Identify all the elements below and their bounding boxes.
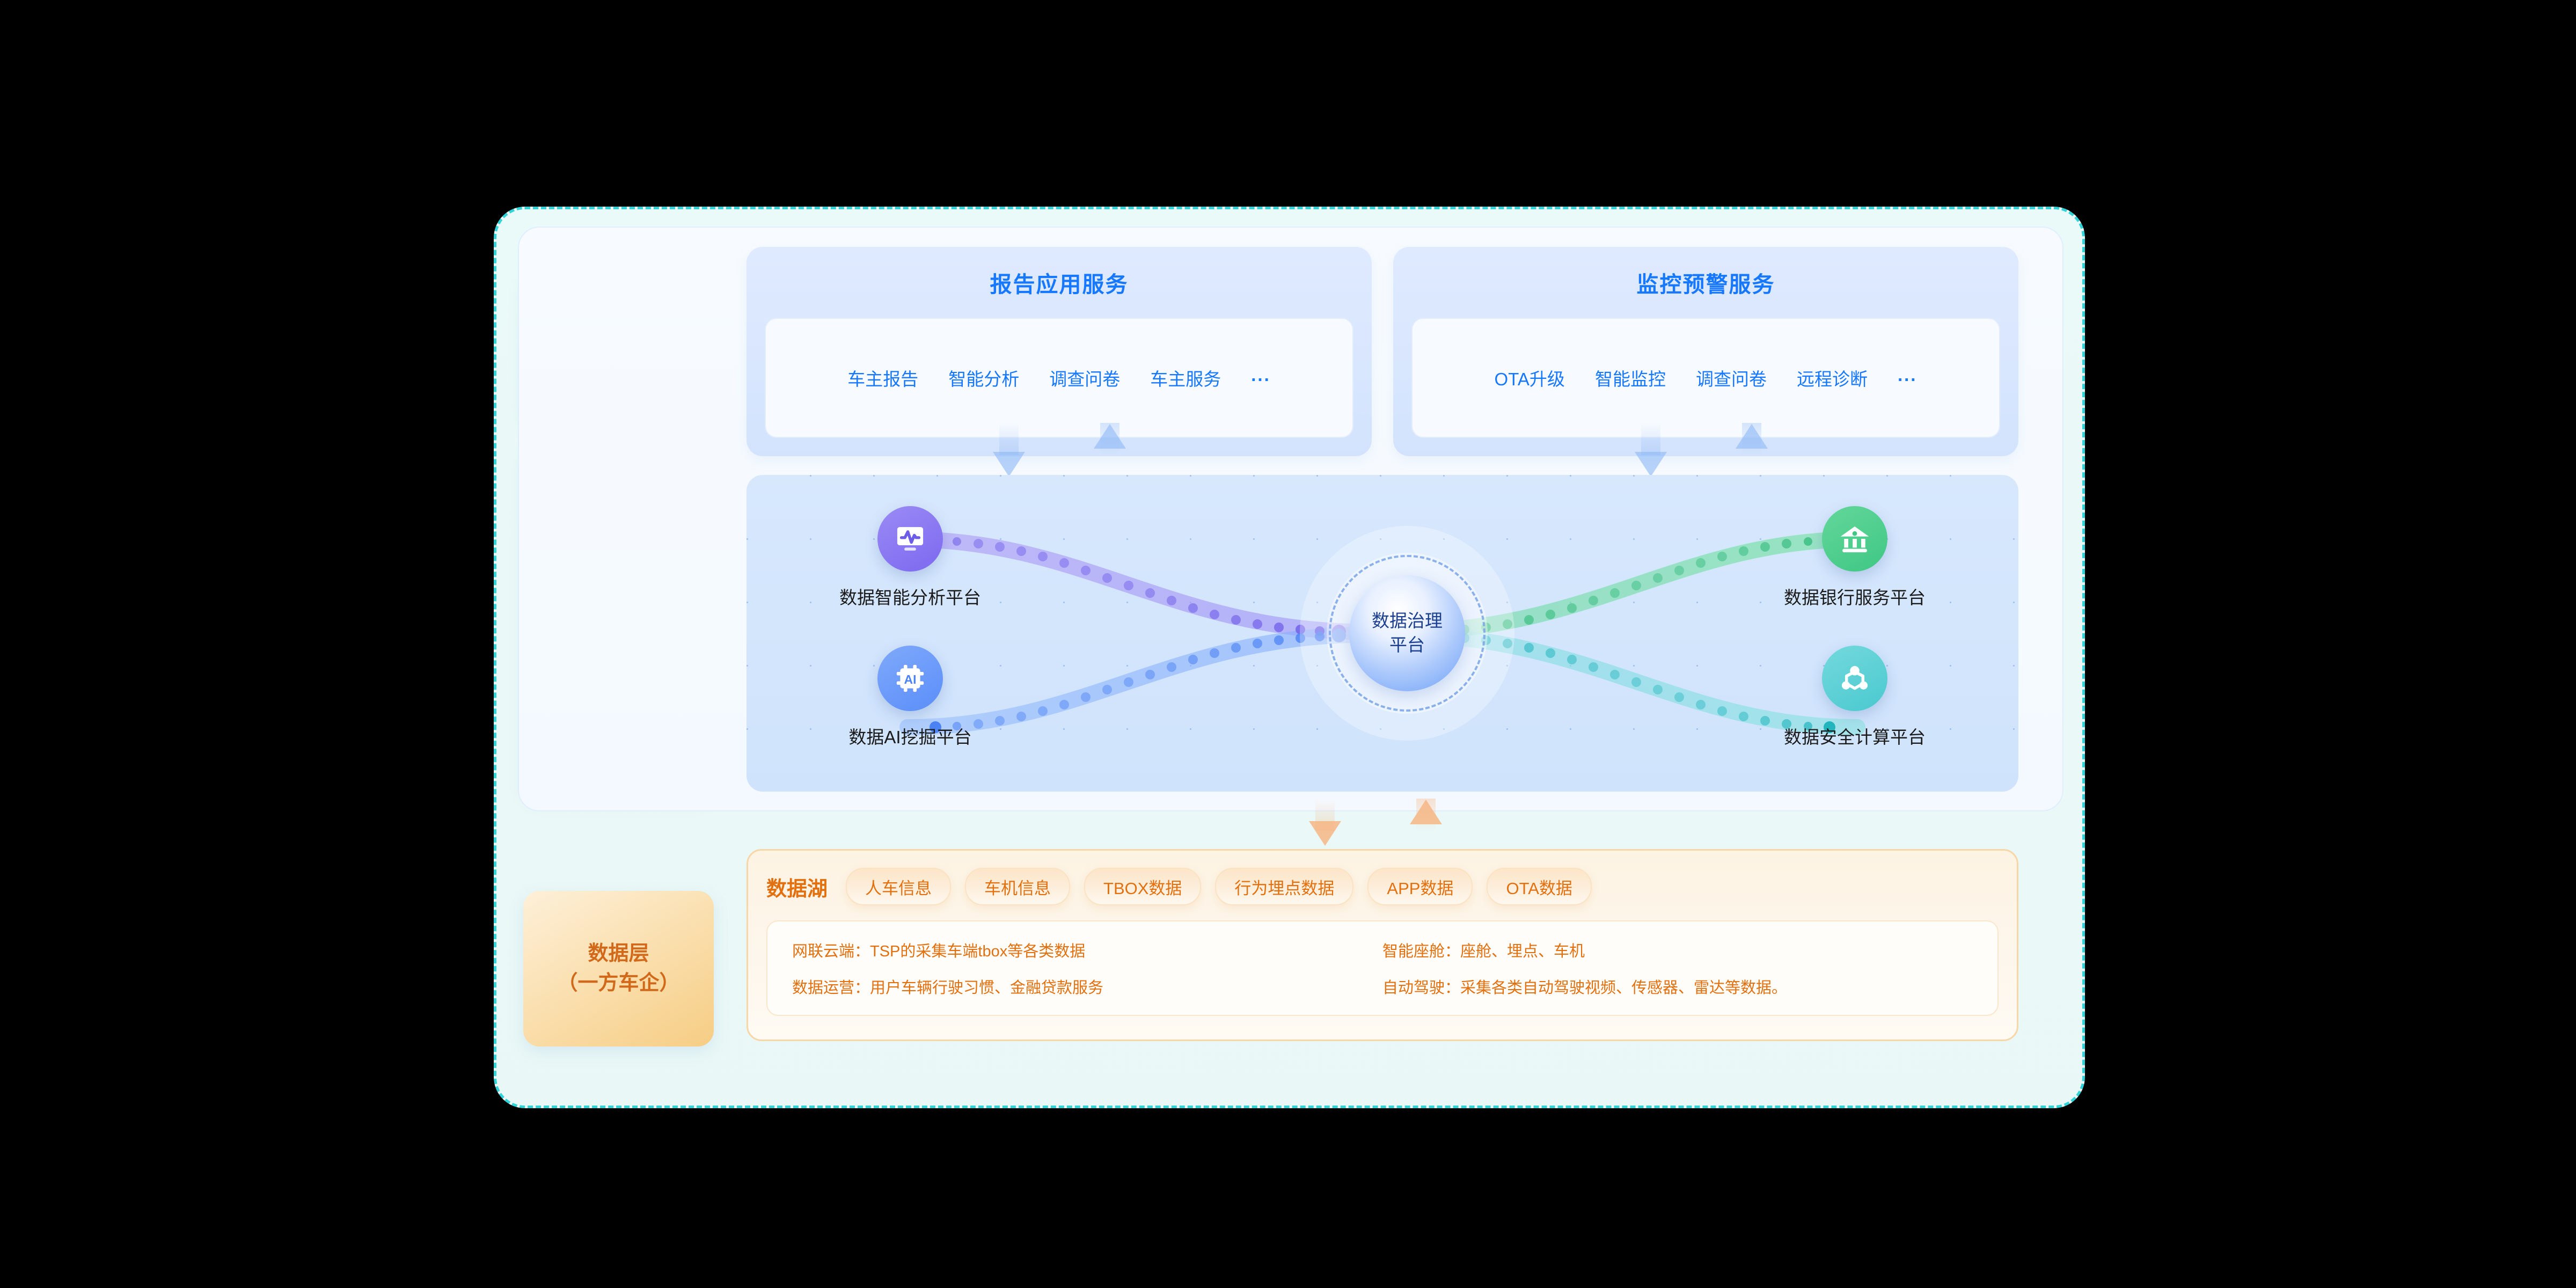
data-source-pill[interactable]: 车机信息 (965, 868, 1070, 905)
bank-icon (1822, 506, 1887, 572)
data-lake-title: 数据湖 (766, 872, 828, 902)
service-item[interactable]: 智能监控 (1595, 365, 1666, 391)
tool-node-label: 数据AI挖掘平台 (848, 723, 971, 749)
data-description-line: 数据运营：用户车辆行驶习惯、金融贷款服务 (792, 975, 1382, 998)
arrow-down-to-data (1309, 821, 1341, 846)
tool-node-ai-mining[interactable]: AI 数据AI挖掘平台 (822, 646, 999, 749)
data-source-pill[interactable]: 行为埋点数据 (1215, 868, 1353, 905)
data-description-line: 自动驾驶：采集各类自动驾驶视频、传感器、雷达等数据。 (1382, 975, 1973, 998)
data-description-column-left: 网联云端：TSP的采集车端tbox等各类数据 数据运营：用户车辆行驶习惯、金融贷… (792, 938, 1382, 999)
data-layer-panel: 数据湖 人车信息 车机信息 TBOX数据 行为埋点数据 APP数据 OTA数据 … (747, 849, 2018, 1041)
data-source-pill[interactable]: OTA数据 (1487, 868, 1591, 905)
service-item[interactable]: 调查问卷 (1049, 365, 1120, 391)
arrow-down-stem (999, 423, 1019, 455)
service-item[interactable]: 远程诊断 (1797, 365, 1868, 391)
service-item-list: 车主报告 智能分析 调查问卷 车主服务 ... (765, 318, 1353, 438)
svg-text:AI: AI (904, 672, 917, 686)
service-cards-row: 报告应用服务 车主报告 智能分析 调查问卷 车主服务 ... 监控预警服务 OT… (747, 247, 2018, 456)
tool-node-label: 数据智能分析平台 (839, 583, 981, 609)
tool-layer-panel: 数据智能分析平台 AI (747, 475, 2018, 792)
arrow-down-to-tool-left (993, 452, 1025, 477)
arrow-down-stem (1641, 423, 1660, 455)
data-description-line: 智能座舱：座舱、埋点、车机 (1382, 939, 1973, 961)
service-item-more[interactable]: ... (1898, 365, 1918, 391)
tool-node-data-bank[interactable]: 数据银行服务平台 (1766, 506, 1943, 609)
data-source-pill[interactable]: APP数据 (1367, 868, 1473, 905)
secure-node-icon (1822, 646, 1887, 711)
data-description-column-right: 智能座舱：座舱、埋点、车机 自动驾驶：采集各类自动驾驶视频、传感器、雷达等数据。 (1382, 938, 1973, 999)
data-description-line: 网联云端：TSP的采集车端tbox等各类数据 (792, 939, 1382, 961)
data-description-box: 网联云端：TSP的采集车端tbox等各类数据 数据运营：用户车辆行驶习惯、金融贷… (766, 920, 1999, 1016)
arrow-up-to-app-left (1094, 424, 1126, 449)
arrow-up-to-app-right (1736, 424, 1768, 449)
service-card-title: 监控预警服务 (1637, 266, 1775, 298)
data-lake-row: 数据湖 人车信息 车机信息 TBOX数据 行为埋点数据 APP数据 OTA数据 (766, 867, 1999, 906)
service-item[interactable]: 车主服务 (1150, 365, 1221, 391)
tool-node-secure-compute[interactable]: 数据安全计算平台 (1766, 646, 1943, 749)
service-item-more[interactable]: ... (1251, 365, 1271, 391)
data-layer-subtitle: （一方车企） (557, 969, 679, 998)
governance-hub[interactable]: 数据治理 平台 (1300, 526, 1514, 741)
tool-node-label: 数据安全计算平台 (1784, 723, 1926, 749)
service-card-report[interactable]: 报告应用服务 车主报告 智能分析 调查问卷 车主服务 ... (747, 247, 1372, 456)
data-layer-title: 数据层 (557, 939, 679, 969)
monitor-pulse-icon (877, 506, 943, 572)
service-card-monitor[interactable]: 监控预警服务 OTA升级 智能监控 调查问卷 远程诊断 ... (1393, 247, 2018, 456)
service-item[interactable]: OTA升级 (1495, 365, 1565, 391)
outer-dashed-frame: 应用层 （业务应用） 工具层 （治理底座） 数据层 （一方车企） 报告应用服务 … (494, 207, 2085, 1108)
layer-label-data: 数据层 （一方车企） (523, 891, 714, 1046)
tool-node-label: 数据银行服务平台 (1784, 583, 1926, 609)
tool-node-analytics[interactable]: 数据智能分析平台 (822, 506, 999, 609)
arrow-down-to-tool-right (1635, 452, 1667, 477)
service-item[interactable]: 调查问卷 (1696, 365, 1767, 391)
service-item[interactable]: 智能分析 (948, 365, 1019, 391)
ai-chip-icon: AI (877, 646, 943, 711)
diagram-canvas: 应用层 （业务应用） 工具层 （治理底座） 数据层 （一方车企） 报告应用服务 … (0, 0, 2576, 1288)
service-item-list: OTA升级 智能监控 调查问卷 远程诊断 ... (1411, 318, 2000, 438)
hub-core-label: 数据治理 平台 (1349, 575, 1465, 691)
hub-title-line2: 平台 (1372, 633, 1443, 657)
data-source-pill[interactable]: 人车信息 (846, 868, 951, 905)
data-source-pill[interactable]: TBOX数据 (1084, 868, 1201, 905)
hub-title-line1: 数据治理 (1372, 609, 1443, 633)
service-item[interactable]: 车主报告 (847, 365, 918, 391)
arrow-up-to-tool (1410, 800, 1442, 824)
service-card-title: 报告应用服务 (990, 266, 1129, 298)
